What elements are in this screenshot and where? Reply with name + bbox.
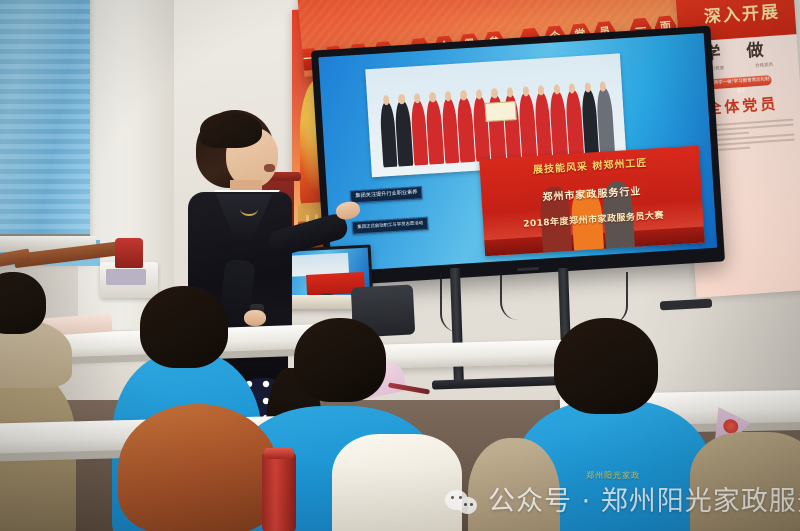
poster-right-pill-2: "两学一做"学习教育常态化制度化 — [709, 75, 772, 89]
presentation-television: 展技能风采 树郑州工匠 郑州市家政服务行业 2018年度郑州市家政服务员大赛 集… — [311, 26, 725, 287]
window — [0, 0, 90, 262]
av-cable — [604, 272, 628, 324]
watermark-text: 公众号 · 郑州阳光家政服务公司 — [488, 487, 800, 517]
attendee-2-head — [140, 286, 228, 368]
attendee-3-head — [118, 404, 278, 531]
presenter-necklace — [240, 202, 258, 216]
tv-screen: 展技能风采 树郑州工匠 郑州市家政服务行业 2018年度郑州市家政服务员大赛 集… — [318, 33, 717, 272]
slide-certificate — [485, 101, 516, 122]
attendee-1-head — [0, 272, 46, 334]
thermos-cap — [264, 448, 294, 459]
attendee-6-head — [554, 318, 658, 414]
slide-bullet-1: 集团关注提升行业职业素养 — [350, 187, 423, 205]
training-session-photo: ☭ ❄❄ 开展"先锋"党员主题党日活动 持续推进党组织建设和党务工作 ☭ 一 个… — [0, 0, 800, 531]
attendee-1 — [0, 272, 80, 531]
wechat-watermark: 公众号 · 郑州阳光家政服务公司 — [445, 487, 800, 517]
attendee-5-sleeve — [332, 434, 462, 531]
tv-brand-logo — [517, 267, 539, 271]
slide-award-banner: 展技能风采 树郑州工匠 郑州市家政服务行业 2018年度郑州市家政服务员大赛 — [480, 145, 706, 255]
presenter-mouth — [264, 164, 275, 172]
attendee-6-neighbor-jacket — [468, 438, 560, 531]
attendee-4-head — [294, 318, 386, 402]
vest-back-text: 郑州阳光家政 — [586, 470, 640, 481]
window-blind — [0, 0, 90, 234]
poster-right-sub-right: 合格党员 — [755, 62, 773, 69]
wechat-icon — [445, 488, 479, 516]
av-cable — [500, 272, 520, 320]
red-thermos-bottle — [262, 452, 296, 531]
presenter-fringe — [200, 112, 262, 148]
slide-bullet-2: 集团正式启动职工与学员志愿活动 — [352, 216, 429, 234]
shelf-thermos — [115, 238, 143, 268]
